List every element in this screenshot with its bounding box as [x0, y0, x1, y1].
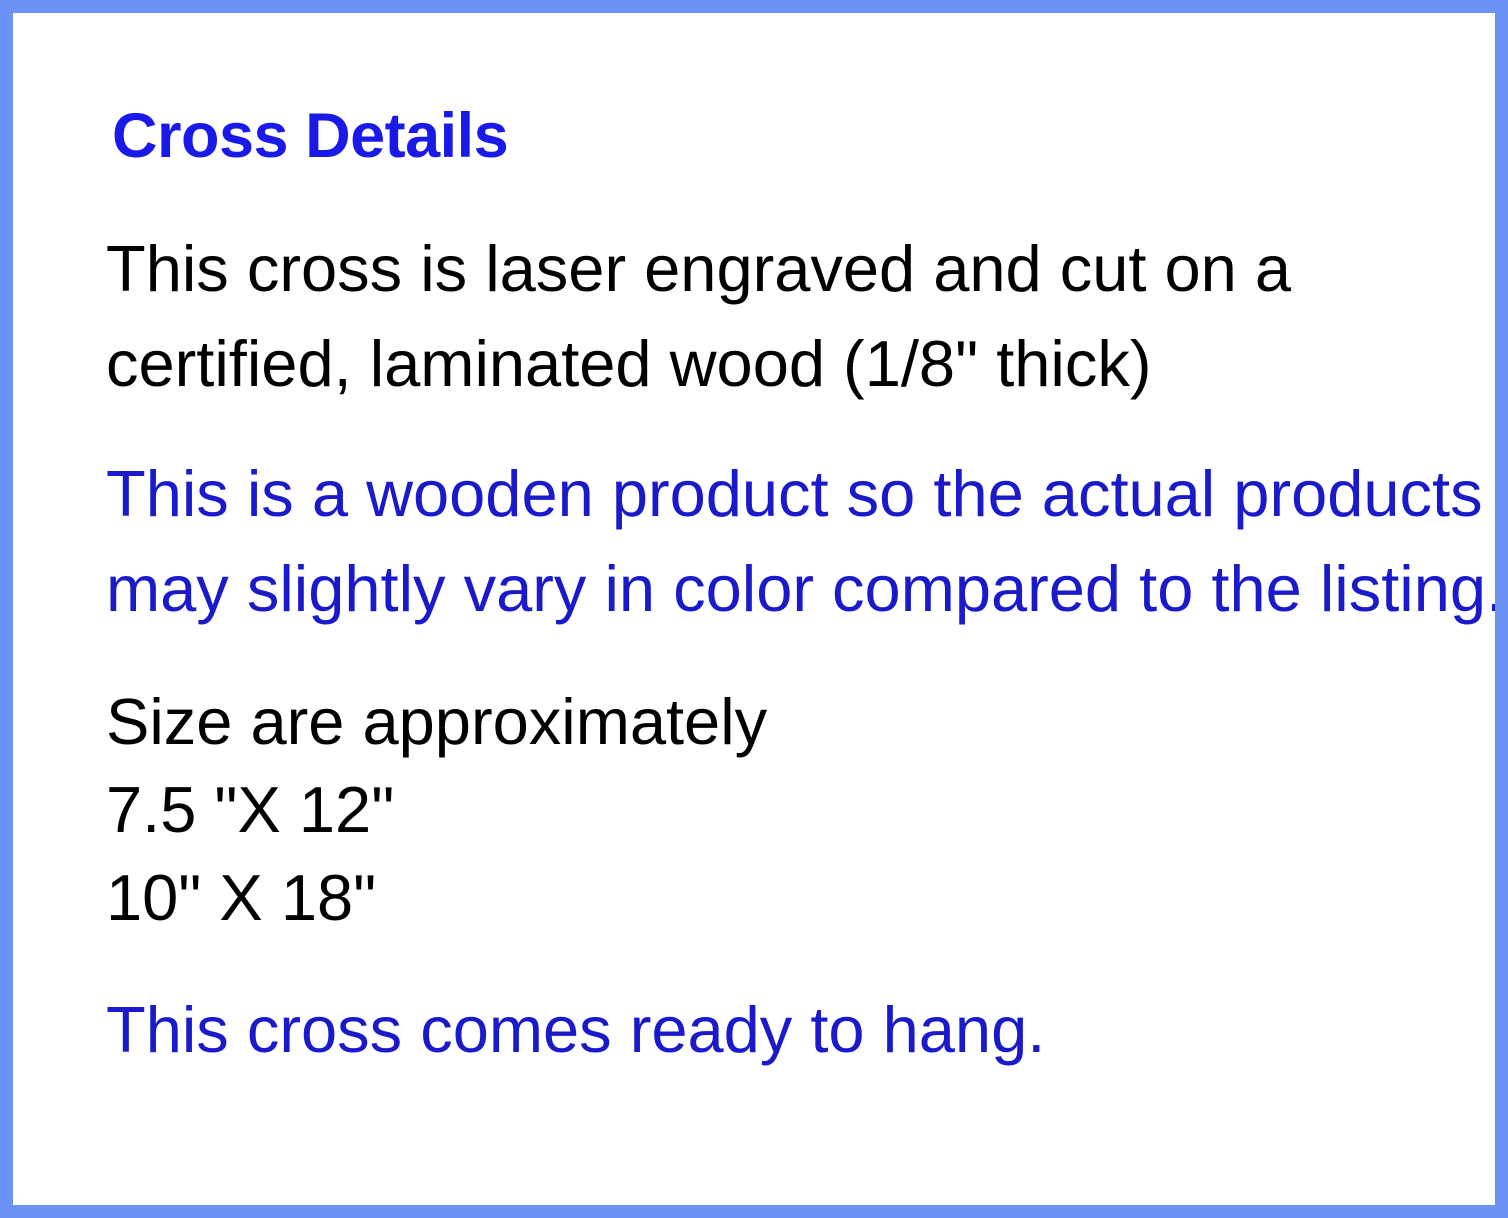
size-option-small: 7.5 "X 12"	[106, 766, 1491, 854]
disclaimer-line-2: may slightly vary in color compared to t…	[106, 541, 1491, 636]
hanging-paragraph: This cross comes ready to hang.	[106, 982, 1491, 1077]
disclaimer-line-1: This is a wooden product so the actual p…	[106, 446, 1491, 541]
page-title: Cross Details	[112, 98, 1491, 174]
spacer-disclaimer	[106, 636, 1491, 678]
spacer-material	[106, 411, 1491, 446]
spacer-title	[106, 174, 1491, 221]
disclaimer-paragraph: This is a wooden product so the actual p…	[106, 446, 1491, 636]
product-details-card: Cross Details This cross is laser engrav…	[0, 0, 1508, 1218]
size-option-large: 10" X 18"	[106, 854, 1491, 942]
card-inner-panel: Cross Details This cross is laser engrav…	[13, 13, 1495, 1205]
material-line-1: This cross is laser engraved and cut on …	[106, 221, 1491, 316]
spacer-sizes	[106, 942, 1491, 982]
sizes-heading-line: Size are approximately	[106, 678, 1491, 766]
material-line-2: certified, laminated wood (1/8" thick)	[106, 316, 1491, 411]
card-content: Cross Details This cross is laser engrav…	[106, 98, 1491, 1205]
sizes-paragraph: Size are approximately 7.5 "X 12" 10" X …	[106, 678, 1491, 942]
hanging-line-1: This cross comes ready to hang.	[106, 982, 1491, 1077]
material-paragraph: This cross is laser engraved and cut on …	[106, 221, 1491, 411]
